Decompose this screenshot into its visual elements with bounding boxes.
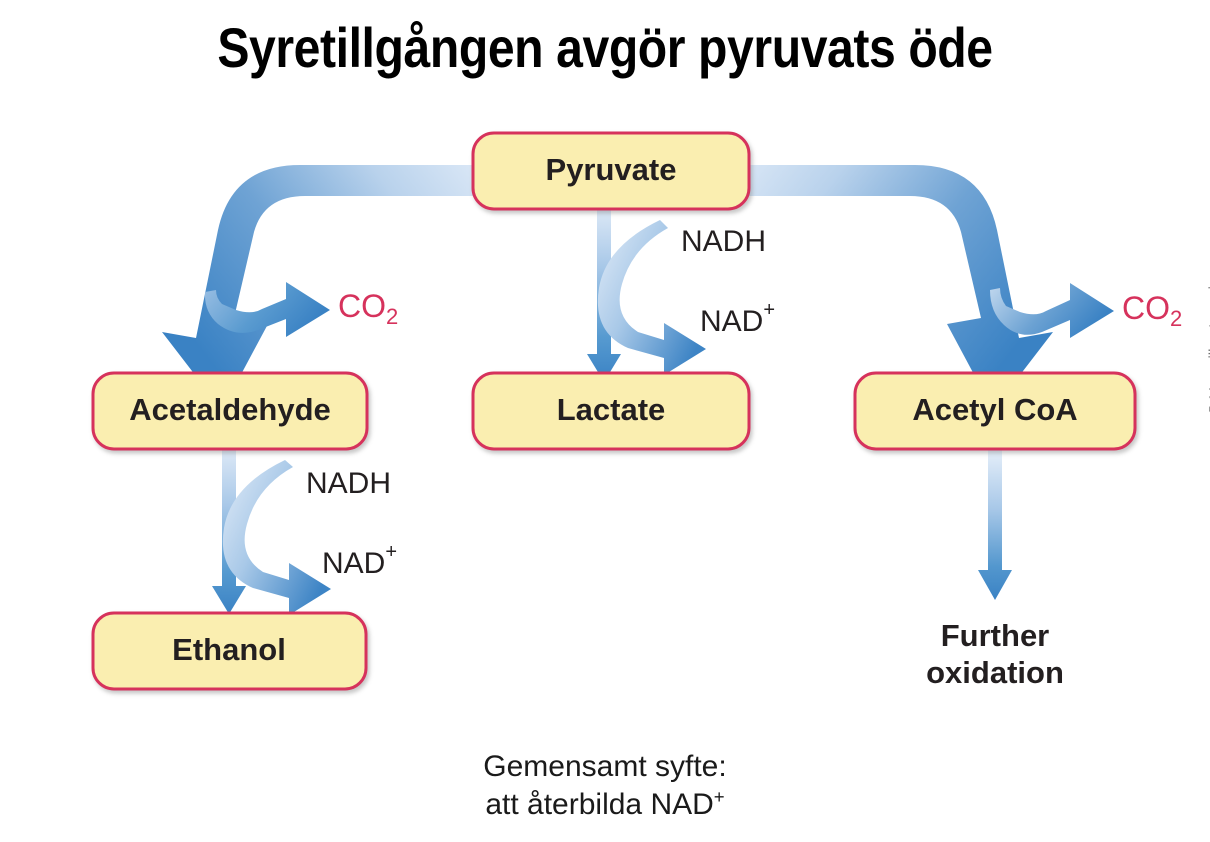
caption-line-2: att återbilda NAD+ <box>0 786 1210 824</box>
node-ethanol-label: Ethanol <box>172 632 286 667</box>
arrow-acetylcoa-to-further-oxidation <box>978 448 1012 600</box>
co2-right-text: CO <box>1122 290 1170 326</box>
nad-center-superscript: + <box>763 299 775 321</box>
further-oxidation-label: Further oxidation <box>926 618 1064 690</box>
node-acetaldehyde-label: Acetaldehyde <box>129 392 331 427</box>
nad-center-label: NAD+ <box>700 299 775 338</box>
nad-left-superscript: + <box>385 541 397 563</box>
caption-line-2-text: att återbilda NAD <box>485 788 713 821</box>
further-oxidation-line1: Further <box>941 618 1050 653</box>
further-oxidation-line2: oxidation <box>926 655 1064 690</box>
nad-center-text: NAD <box>700 305 763 338</box>
nadh-center-label: NADH <box>681 225 766 258</box>
node-pyruvate-label: Pyruvate <box>546 152 677 187</box>
slide-canvas: Syretillgången avgör pyruvats öde <box>0 0 1210 842</box>
pathway-diagram: CO2 NADH NAD+ CO2 <box>0 110 1210 730</box>
copyright-credit: © Macmillan Learning <box>1206 269 1210 414</box>
co2-left-label: CO2 <box>338 288 398 328</box>
node-ethanol[interactable]: Ethanol <box>93 613 366 689</box>
node-pyruvate[interactable]: Pyruvate <box>473 133 749 209</box>
co2-right-subscript: 2 <box>1170 306 1182 331</box>
nadh-left-label: NADH <box>306 467 391 500</box>
node-lactate-label: Lactate <box>557 392 666 427</box>
nadh-left-text: NADH <box>306 467 391 500</box>
nadh-center-text: NADH <box>681 225 766 258</box>
co2-right-label: CO2 <box>1122 290 1182 330</box>
caption-block: Gemensamt syfte: att återbilda NAD+ <box>0 748 1210 824</box>
page-title: Syretillgången avgör pyruvats öde <box>85 16 1126 80</box>
nad-left-label: NAD+ <box>322 541 397 580</box>
node-acetyl-coa[interactable]: Acetyl CoA <box>855 373 1135 449</box>
nad-left-text: NAD <box>322 547 385 580</box>
co2-left-text: CO <box>338 288 386 324</box>
node-acetyl-coa-label: Acetyl CoA <box>912 392 1077 427</box>
node-lactate[interactable]: Lactate <box>473 373 749 449</box>
caption-line-1: Gemensamt syfte: <box>0 748 1210 786</box>
co2-left-subscript: 2 <box>386 304 398 329</box>
node-acetaldehyde[interactable]: Acetaldehyde <box>93 373 367 449</box>
caption-line-2-superscript: + <box>714 786 725 807</box>
